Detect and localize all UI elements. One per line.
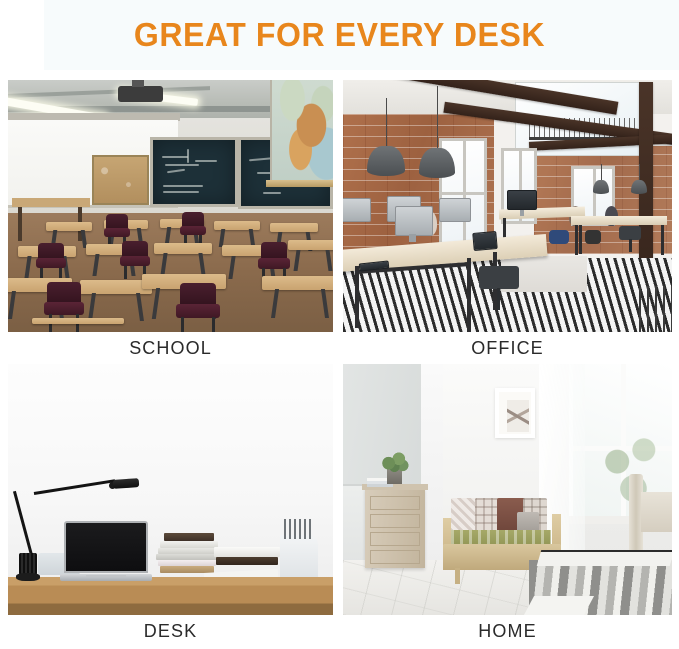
book-stack-center <box>156 533 218 573</box>
lamp-head <box>113 478 140 489</box>
photo-office-loft <box>343 80 672 332</box>
backpack <box>585 230 601 244</box>
photo-school-classroom <box>8 80 333 332</box>
laptop-screen <box>64 521 148 573</box>
world-map <box>270 80 333 183</box>
photo-home-bedroom <box>343 364 672 615</box>
student-desk <box>154 243 212 275</box>
image-grid: SCHOOL <box>8 80 672 640</box>
bed-headboard <box>641 492 672 532</box>
tablet-on-desk <box>472 231 497 251</box>
student-desk <box>288 240 333 270</box>
photo-desk-setup <box>8 364 333 615</box>
caption-desk: DESK <box>8 615 333 647</box>
chalkboard-left <box>150 137 238 207</box>
desk-surface <box>8 577 333 615</box>
monitor-standing-desk <box>507 190 537 210</box>
lamp-base <box>16 573 40 581</box>
office-chair-foreground <box>479 266 519 310</box>
bed-edge-trim <box>537 550 672 566</box>
bag-under-desk <box>549 230 569 244</box>
office-chair-far <box>619 226 641 252</box>
ceiling-projector-icon <box>118 86 163 102</box>
caption-office: OFFICE <box>343 332 672 364</box>
gallery-cell-home: HOME <box>343 364 672 615</box>
monitor-left-1 <box>343 198 371 222</box>
gallery-cell-school: SCHOOL <box>8 80 333 332</box>
cushion-floral <box>451 498 477 532</box>
page-title: GREAT FOR EVERY DESK <box>10 0 669 70</box>
caption-home: HOME <box>343 615 672 647</box>
pendant-lamp-far <box>593 164 609 194</box>
bed-sheet <box>524 596 594 615</box>
pendant-lamp-center <box>419 86 455 178</box>
monitor-left-3 <box>439 198 471 222</box>
book-stack-right <box>214 547 280 567</box>
pendant-lamp-far-right <box>631 164 647 194</box>
desk-far-right <box>571 216 667 225</box>
student-desk <box>214 221 260 247</box>
cork-board <box>92 155 149 205</box>
stair-railing <box>639 286 672 332</box>
gallery-cell-office: OFFICE <box>343 80 672 332</box>
student-chair <box>36 258 66 280</box>
student-chair <box>176 304 220 332</box>
product-feature-graphic: GREAT FOR EVERY DESK <box>0 0 679 649</box>
pendant-lamp-left <box>367 98 405 176</box>
potted-plant <box>379 450 411 472</box>
wooden-dresser <box>365 488 425 568</box>
lamp-column <box>19 553 37 575</box>
cushion-plaid-left <box>475 498 499 532</box>
caption-school: SCHOOL <box>8 332 333 364</box>
student-desk <box>262 276 333 318</box>
laptop <box>60 521 152 581</box>
student-desk <box>32 318 124 332</box>
monitor-foreground <box>395 206 433 236</box>
magazine-file-holder <box>280 535 318 579</box>
gallery-cell-desk: DESK <box>8 364 333 615</box>
framed-artwork <box>495 388 535 438</box>
